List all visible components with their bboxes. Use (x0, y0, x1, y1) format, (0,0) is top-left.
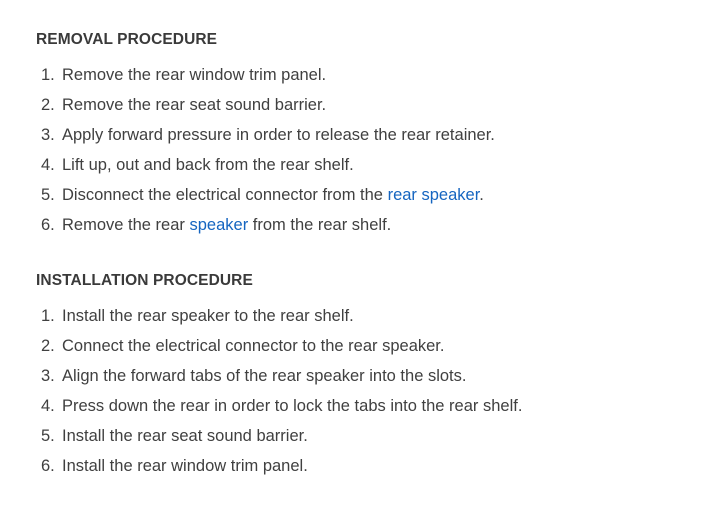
step-text: Remove the rear seat sound barrier. (62, 90, 326, 120)
text-run: Lift up, out and back from the rear shel… (62, 156, 354, 174)
text-run: Align the forward tabs of the rear speak… (62, 367, 466, 385)
text-run: Install the rear window trim panel. (62, 457, 308, 475)
list-item: 6.Remove the rear speaker from the rear … (41, 210, 720, 240)
list-item: 5.Disconnect the electrical connector fr… (41, 180, 720, 210)
step-number: 1. (41, 301, 62, 331)
inline-link[interactable]: rear speaker (388, 186, 480, 204)
step-number: 2. (41, 331, 62, 361)
list-item: 1.Install the rear speaker to the rear s… (41, 301, 720, 331)
section-removal: REMOVAL PROCEDURE 1.Remove the rear wind… (0, 31, 720, 240)
text-run: Press down the rear in order to lock the… (62, 397, 522, 415)
step-number: 5. (41, 180, 62, 210)
text-run: Install the rear speaker to the rear she… (62, 307, 354, 325)
list-item: 1.Remove the rear window trim panel. (41, 60, 720, 90)
list-item: 4.Press down the rear in order to lock t… (41, 391, 720, 421)
step-text: Disconnect the electrical connector from… (62, 180, 484, 210)
step-text: Install the rear speaker to the rear she… (62, 301, 354, 331)
step-text: Press down the rear in order to lock the… (62, 391, 522, 421)
text-run: Disconnect the electrical connector from… (62, 186, 388, 204)
list-item: 2.Connect the electrical connector to th… (41, 331, 720, 361)
step-number: 6. (41, 210, 62, 240)
list-item: 5.Install the rear seat sound barrier. (41, 421, 720, 451)
inline-link[interactable]: speaker (189, 216, 248, 234)
step-text: Align the forward tabs of the rear speak… (62, 361, 466, 391)
step-list-removal: 1.Remove the rear window trim panel.2.Re… (0, 60, 720, 240)
list-item: 6.Install the rear window trim panel. (41, 451, 720, 481)
section-heading-removal: REMOVAL PROCEDURE (36, 31, 720, 49)
step-text: Apply forward pressure in order to relea… (62, 120, 495, 150)
step-number: 1. (41, 60, 62, 90)
text-run: . (479, 186, 484, 204)
section-heading-installation: INSTALLATION PROCEDURE (36, 272, 720, 290)
step-number: 3. (41, 120, 62, 150)
text-run: Install the rear seat sound barrier. (62, 427, 308, 445)
list-item: 3.Align the forward tabs of the rear spe… (41, 361, 720, 391)
text-run: from the rear shelf. (248, 216, 391, 234)
step-text: Connect the electrical connector to the … (62, 331, 444, 361)
text-run: Remove the rear (62, 216, 189, 234)
step-text: Install the rear window trim panel. (62, 451, 308, 481)
step-number: 4. (41, 391, 62, 421)
document-page: REMOVAL PROCEDURE 1.Remove the rear wind… (0, 0, 720, 511)
text-run: Connect the electrical connector to the … (62, 337, 444, 355)
step-text: Lift up, out and back from the rear shel… (62, 150, 354, 180)
text-run: Apply forward pressure in order to relea… (62, 126, 495, 144)
list-item: 3.Apply forward pressure in order to rel… (41, 120, 720, 150)
step-text: Remove the rear window trim panel. (62, 60, 326, 90)
step-text: Remove the rear speaker from the rear sh… (62, 210, 391, 240)
section-installation: INSTALLATION PROCEDURE 1.Install the rea… (0, 272, 720, 481)
step-text: Install the rear seat sound barrier. (62, 421, 308, 451)
step-number: 5. (41, 421, 62, 451)
step-list-installation: 1.Install the rear speaker to the rear s… (0, 301, 720, 481)
text-run: Remove the rear seat sound barrier. (62, 96, 326, 114)
step-number: 4. (41, 150, 62, 180)
text-run: Remove the rear window trim panel. (62, 66, 326, 84)
step-number: 2. (41, 90, 62, 120)
step-number: 3. (41, 361, 62, 391)
list-item: 2.Remove the rear seat sound barrier. (41, 90, 720, 120)
step-number: 6. (41, 451, 62, 481)
list-item: 4.Lift up, out and back from the rear sh… (41, 150, 720, 180)
